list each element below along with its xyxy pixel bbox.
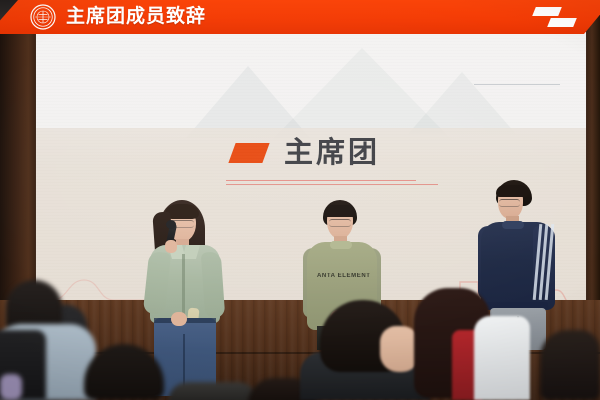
audience-garment-white xyxy=(474,316,530,400)
speaker-center-collar xyxy=(330,241,352,249)
speaker-center-shirt-print: ANTA ELEMENT xyxy=(317,272,369,281)
speaker-right-collar xyxy=(502,221,524,229)
slide-rule-lower xyxy=(226,184,438,185)
speaker-center-fringe xyxy=(324,205,356,217)
banner-title: 主席团成员致辞 xyxy=(66,3,206,30)
speaker-left-hand-on-mic xyxy=(165,240,177,253)
audience-head-far-right xyxy=(540,330,600,400)
slide-accent-parallelogram-icon xyxy=(228,143,269,163)
photograph-canvas: 主席团 xyxy=(0,0,600,400)
audience-shoulder-mid-left xyxy=(168,382,258,400)
slide-title-row: 主席团 xyxy=(232,138,380,167)
speaker-right-glasses-icon xyxy=(499,199,520,207)
slide-hairline-accent xyxy=(474,84,560,85)
slide-title: 主席团 xyxy=(284,138,380,167)
microphone-head-icon xyxy=(166,220,176,229)
speaker-left-hand-lower xyxy=(171,312,187,326)
title-banner: 主席团成员致辞 xyxy=(0,0,600,34)
slide-rule-upper xyxy=(226,180,416,181)
speaker-left-shirt-placket xyxy=(182,254,185,320)
speaker-left-arm-right xyxy=(201,251,226,318)
slide-watermark-mountain-right xyxy=(408,72,516,134)
speaker-right-fringe xyxy=(496,185,528,197)
banner-mark-upper-icon xyxy=(532,7,562,16)
school-crest-emblem-icon xyxy=(30,4,56,30)
speaker-center-glasses-icon xyxy=(329,219,351,227)
banner-mark-lower-icon xyxy=(547,18,577,27)
audience-garment-lilac xyxy=(0,374,22,400)
